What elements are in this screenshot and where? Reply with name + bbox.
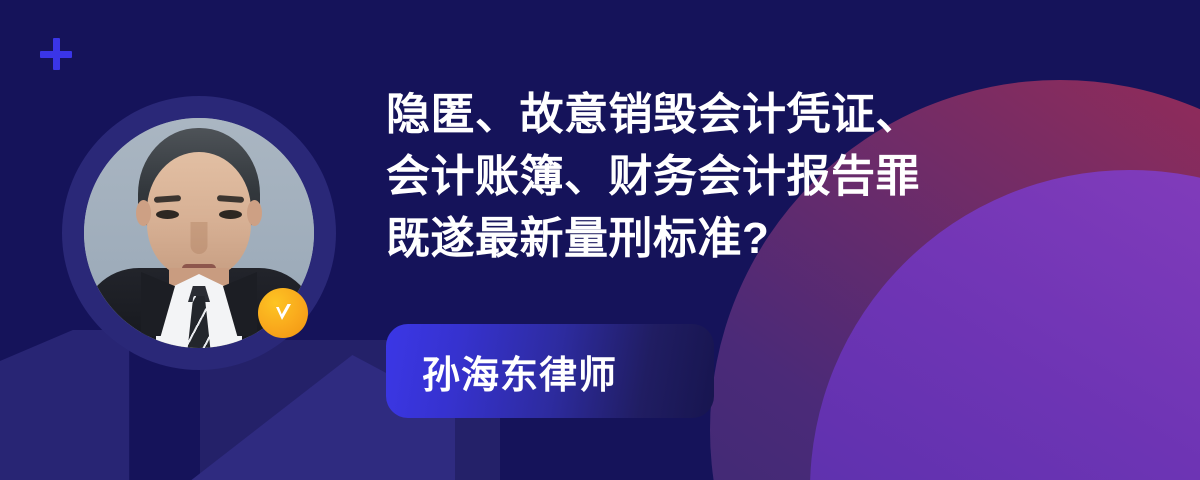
portrait-ear-left xyxy=(136,200,151,226)
portrait-ear-right xyxy=(247,200,262,226)
lawyer-name-label: 孙海东律师 xyxy=(386,344,617,399)
content-column: 隐匿、故意销毁会计凭证、 会计账簿、财务会计报告罪 既遂最新量刑标准? 孙海东律… xyxy=(386,0,1046,480)
page-title: 隐匿、故意销毁会计凭证、 会计账簿、财务会计报告罪 既遂最新量刑标准? xyxy=(386,84,1026,270)
promo-banner: 隐匿、故意销毁会计凭证、 会计账簿、财务会计报告罪 既遂最新量刑标准? 孙海东律… xyxy=(0,0,1200,480)
lawyer-name-badge[interactable]: 孙海东律师 xyxy=(386,324,714,418)
portrait-nose xyxy=(191,222,208,254)
portrait-eye-left xyxy=(156,210,179,219)
portrait-eye-right xyxy=(219,210,242,219)
verified-check-icon xyxy=(258,288,308,338)
avatar xyxy=(62,96,336,370)
plus-icon xyxy=(40,38,72,70)
